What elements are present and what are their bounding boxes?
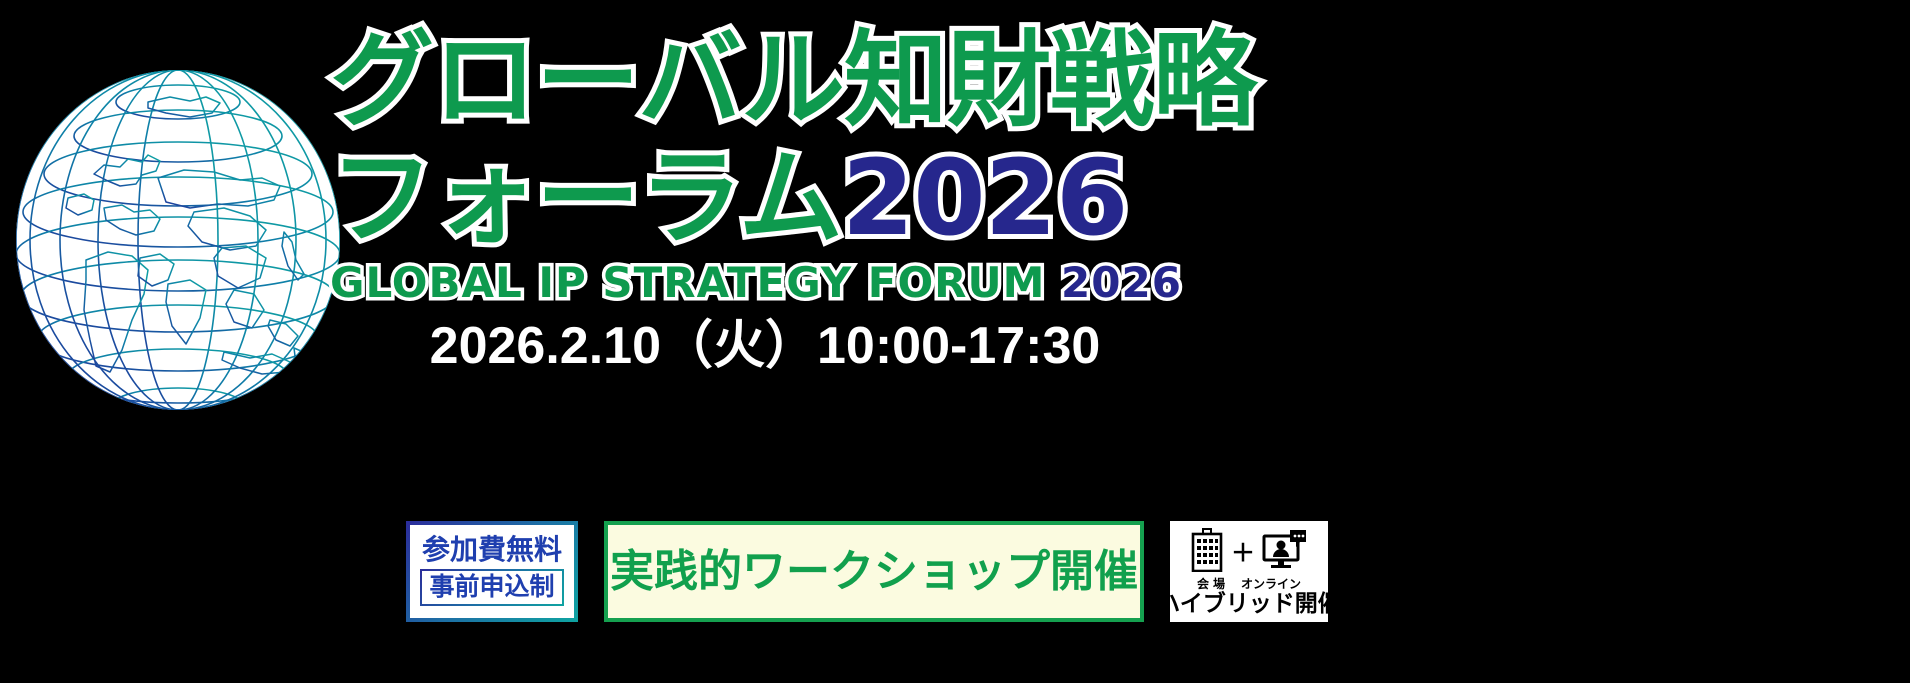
title-year-text: 2026 xyxy=(842,137,1127,259)
online-caption: オンライン xyxy=(1241,578,1301,590)
title-line-2-jp-text: フォーラム xyxy=(330,137,842,259)
subtitle-year-text: 2026 xyxy=(1061,258,1182,307)
plus-icon: ＋ xyxy=(1231,541,1255,565)
event-date-time: 2026.2.10（火）10:00-17:30 xyxy=(330,320,1200,372)
title-block: グローバル知財戦略 グローバル知財戦略 フォーラム フォーラム 2026 202… xyxy=(330,28,1330,372)
building-icon xyxy=(1190,528,1224,577)
hybrid-icons: ＋ xyxy=(1190,528,1308,577)
title-line-2: フォーラム フォーラム 2026 2026 xyxy=(330,146,1330,258)
venue-caption: 会場 xyxy=(1197,578,1229,590)
hybrid-headline: ハイブリッド開催 xyxy=(1157,593,1341,616)
subtitle-en-text: GLOBAL IP STRATEGY FORUM xyxy=(330,258,1045,307)
subtitle-english: GLOBAL IP STRATEGY FORUM GLOBAL IP STRAT… xyxy=(330,262,1330,304)
hybrid-captions: 会場 オンライン xyxy=(1197,578,1301,590)
workshop-label: 実践的ワークショップ開催 xyxy=(610,550,1138,594)
globe-wireframe-icon xyxy=(8,62,348,417)
title-line-1: グローバル知財戦略 グローバル知財戦略 xyxy=(330,28,1330,140)
free-admission-badge: 参加費無料 事前申込制 xyxy=(406,521,578,622)
badge-row: 参加費無料 事前申込制 実践的ワークショップ開催 xyxy=(406,521,1328,622)
hybrid-format-badge: ＋ 会場 オンライ xyxy=(1170,521,1328,622)
monitor-person-icon xyxy=(1262,528,1308,577)
title-line-1-text: グローバル知財戦略 xyxy=(330,19,1256,141)
free-admission-label: 参加費無料 xyxy=(422,536,562,564)
workshop-badge: 実践的ワークショップ開催 xyxy=(604,521,1144,622)
advance-registration-label: 事前申込制 xyxy=(429,574,554,599)
advance-registration-box: 事前申込制 xyxy=(420,569,563,606)
event-banner: グローバル知財戦略 グローバル知財戦略 フォーラム フォーラム 2026 202… xyxy=(0,0,1910,683)
